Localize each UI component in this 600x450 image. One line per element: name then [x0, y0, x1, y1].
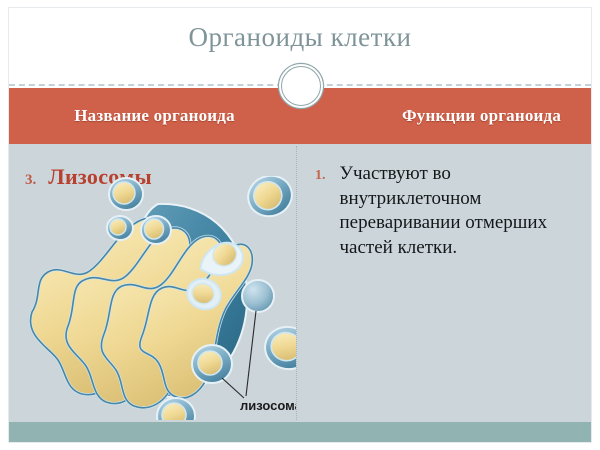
transport-granule	[242, 280, 274, 312]
diagram-caption: лизосома	[240, 398, 296, 413]
function-entry: 1. Участвуют во внутриклеточном перевари…	[315, 162, 581, 261]
lysosome-golgi-illustration: лизосома	[8, 176, 296, 420]
right-column: 1. Участвуют во внутриклеточном перевари…	[297, 144, 591, 422]
column-header-organelle-functions: Функции органоида	[322, 88, 600, 144]
page-title: Органоиды клетки	[0, 22, 600, 53]
lysosome-golgi-diagram: лизосома	[8, 176, 296, 420]
footer-band	[9, 422, 591, 443]
function-description: Участвуют во внутриклеточном перевариван…	[340, 162, 582, 261]
slide: Органоиды клетки Название органоида Функ…	[0, 0, 600, 450]
function-list-number: 1.	[315, 162, 326, 184]
circle-ring-decoration-icon	[281, 66, 321, 106]
column-header-organelle-name: Название органоида	[9, 88, 322, 144]
